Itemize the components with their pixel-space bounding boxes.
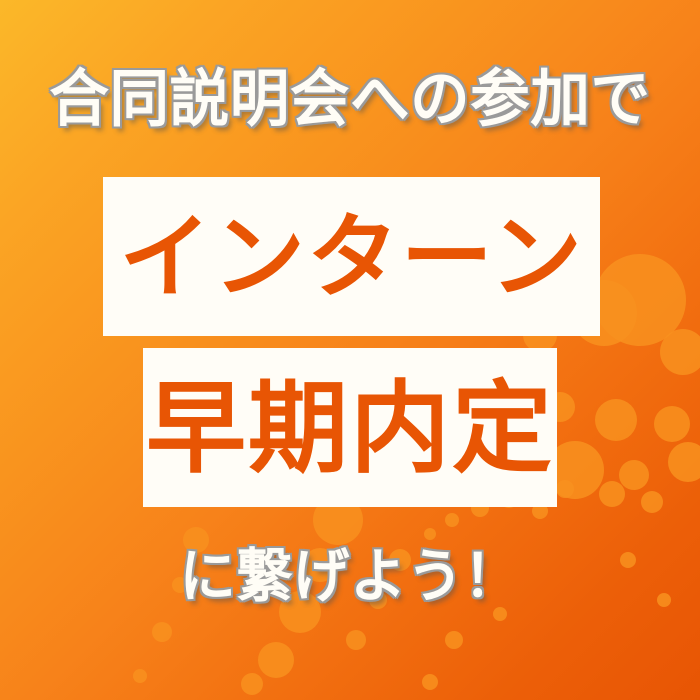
headline-top: 合同説明会への参加で — [14, 62, 686, 136]
decorative-circle — [599, 481, 625, 507]
decorative-circle — [424, 528, 436, 540]
keyword-panel-early-offer-label: 早期内定 — [146, 378, 554, 478]
poster-canvas: 合同説明会への参加で インターン 早期内定 に繋げよう！ — [0, 0, 700, 700]
decorative-circle — [595, 399, 637, 441]
keyword-panel-early-offer: 早期内定 — [143, 348, 557, 507]
decorative-circle — [241, 673, 263, 695]
decorative-circle — [445, 631, 463, 649]
decorative-circle — [258, 642, 294, 678]
decorative-circle — [133, 669, 147, 683]
headline-bottom: に繋げよう！ — [11, 541, 690, 611]
decorative-circle — [668, 442, 700, 482]
decorative-circle — [654, 406, 690, 442]
decorative-circle — [641, 491, 663, 513]
decorative-circle — [445, 513, 459, 527]
decorative-circle — [594, 254, 686, 346]
keyword-panel-intern-label: インターン — [119, 211, 584, 303]
decorative-circle — [346, 630, 366, 650]
decorative-circle — [660, 329, 700, 375]
keyword-panel-intern: インターン — [103, 177, 600, 336]
decorative-circle — [152, 622, 172, 642]
decorative-circle — [619, 460, 649, 490]
decorative-circle — [556, 480, 574, 498]
decorative-circle — [422, 674, 438, 690]
